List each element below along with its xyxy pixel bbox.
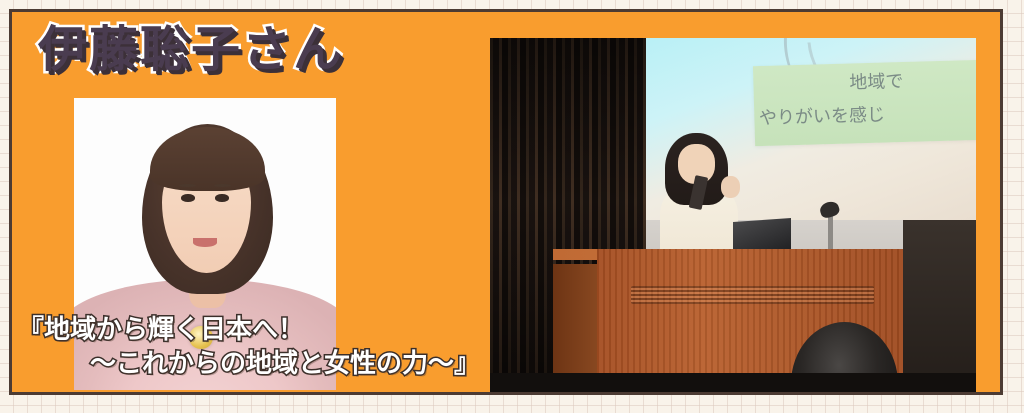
lecture-title-line-1: 『地域から輝く日本へ！ [12, 312, 1000, 346]
projection-caption-line-1: 地域で [849, 67, 904, 94]
page-background: 伊藤聡子さん 伊藤聡子さん 顔写真 『地域から輝く日本へ！ ～これからの地域と女… [0, 0, 1024, 413]
page-title: 伊藤聡子さん [38, 26, 344, 75]
podium-groove-detail [631, 286, 874, 304]
portrait-eye-right [215, 194, 228, 202]
projection-caption-line-2: やりがいを感じ [758, 101, 885, 131]
projection-caption-panel: 地域で やりがいを感じ [753, 60, 976, 146]
lecture-title-line-2: ～これからの地域と女性の力～』 [12, 346, 1000, 380]
portrait-mouth [193, 238, 217, 247]
speaker-raised-hand [721, 176, 740, 198]
portrait-eye-left [181, 194, 194, 202]
speaker-banner-panel: 伊藤聡子さん 伊藤聡子さん 顔写真 『地域から輝く日本へ！ ～これからの地域と女… [9, 9, 1003, 395]
speaker-lecture-title: 『地域から輝く日本へ！ ～これからの地域と女性の力～』 [12, 312, 1000, 380]
